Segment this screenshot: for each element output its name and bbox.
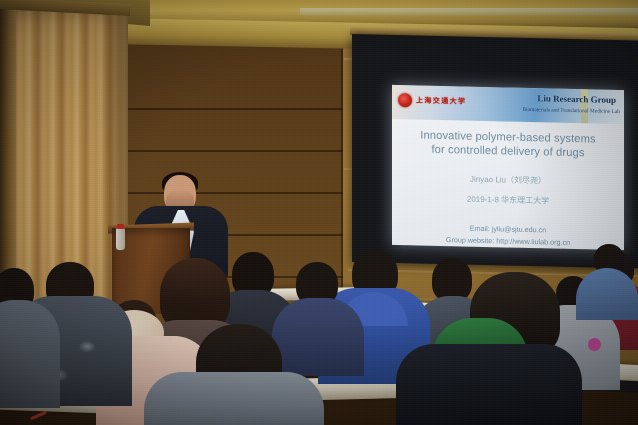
banner-chinese-name: 上海交通大学 (416, 95, 466, 106)
slide-surface: 上海交通大学 Liu Research Group Biomaterials a… (392, 85, 624, 250)
slide-date-venue: 2019-1-8 华东理工大学 (396, 192, 620, 208)
slide-body: Innovative polymer-based systems for con… (392, 119, 624, 249)
attendee-coat (144, 372, 324, 425)
attendee-sleeve-logo (588, 338, 601, 351)
attendee-coat (396, 344, 582, 425)
water-bottle (116, 228, 125, 250)
water-bottle-cap (117, 224, 124, 229)
ceiling-light-strip (300, 8, 638, 16)
banner-group-title: Liu Research Group (537, 93, 616, 105)
lecture-hall-photo: 上海交通大学 Liu Research Group Biomaterials a… (0, 0, 638, 425)
attendee-coat (0, 300, 60, 408)
slide-author: Jinyao Liu（刘尽尧） (396, 172, 620, 188)
red-pencil (30, 411, 47, 421)
wall-groove (128, 150, 343, 152)
wall-groove (128, 192, 343, 194)
university-seal-icon (398, 93, 412, 107)
wall-groove (128, 108, 343, 110)
slide-banner: 上海交通大学 Liu Research Group Biomaterials a… (392, 85, 624, 124)
attendee-coat (272, 298, 364, 376)
wall-vertical-seam (341, 30, 343, 330)
projection-screen: 上海交通大学 Liu Research Group Biomaterials a… (352, 34, 638, 268)
banner-subtitle: Biomaterials and Translational Medicine … (522, 107, 620, 115)
